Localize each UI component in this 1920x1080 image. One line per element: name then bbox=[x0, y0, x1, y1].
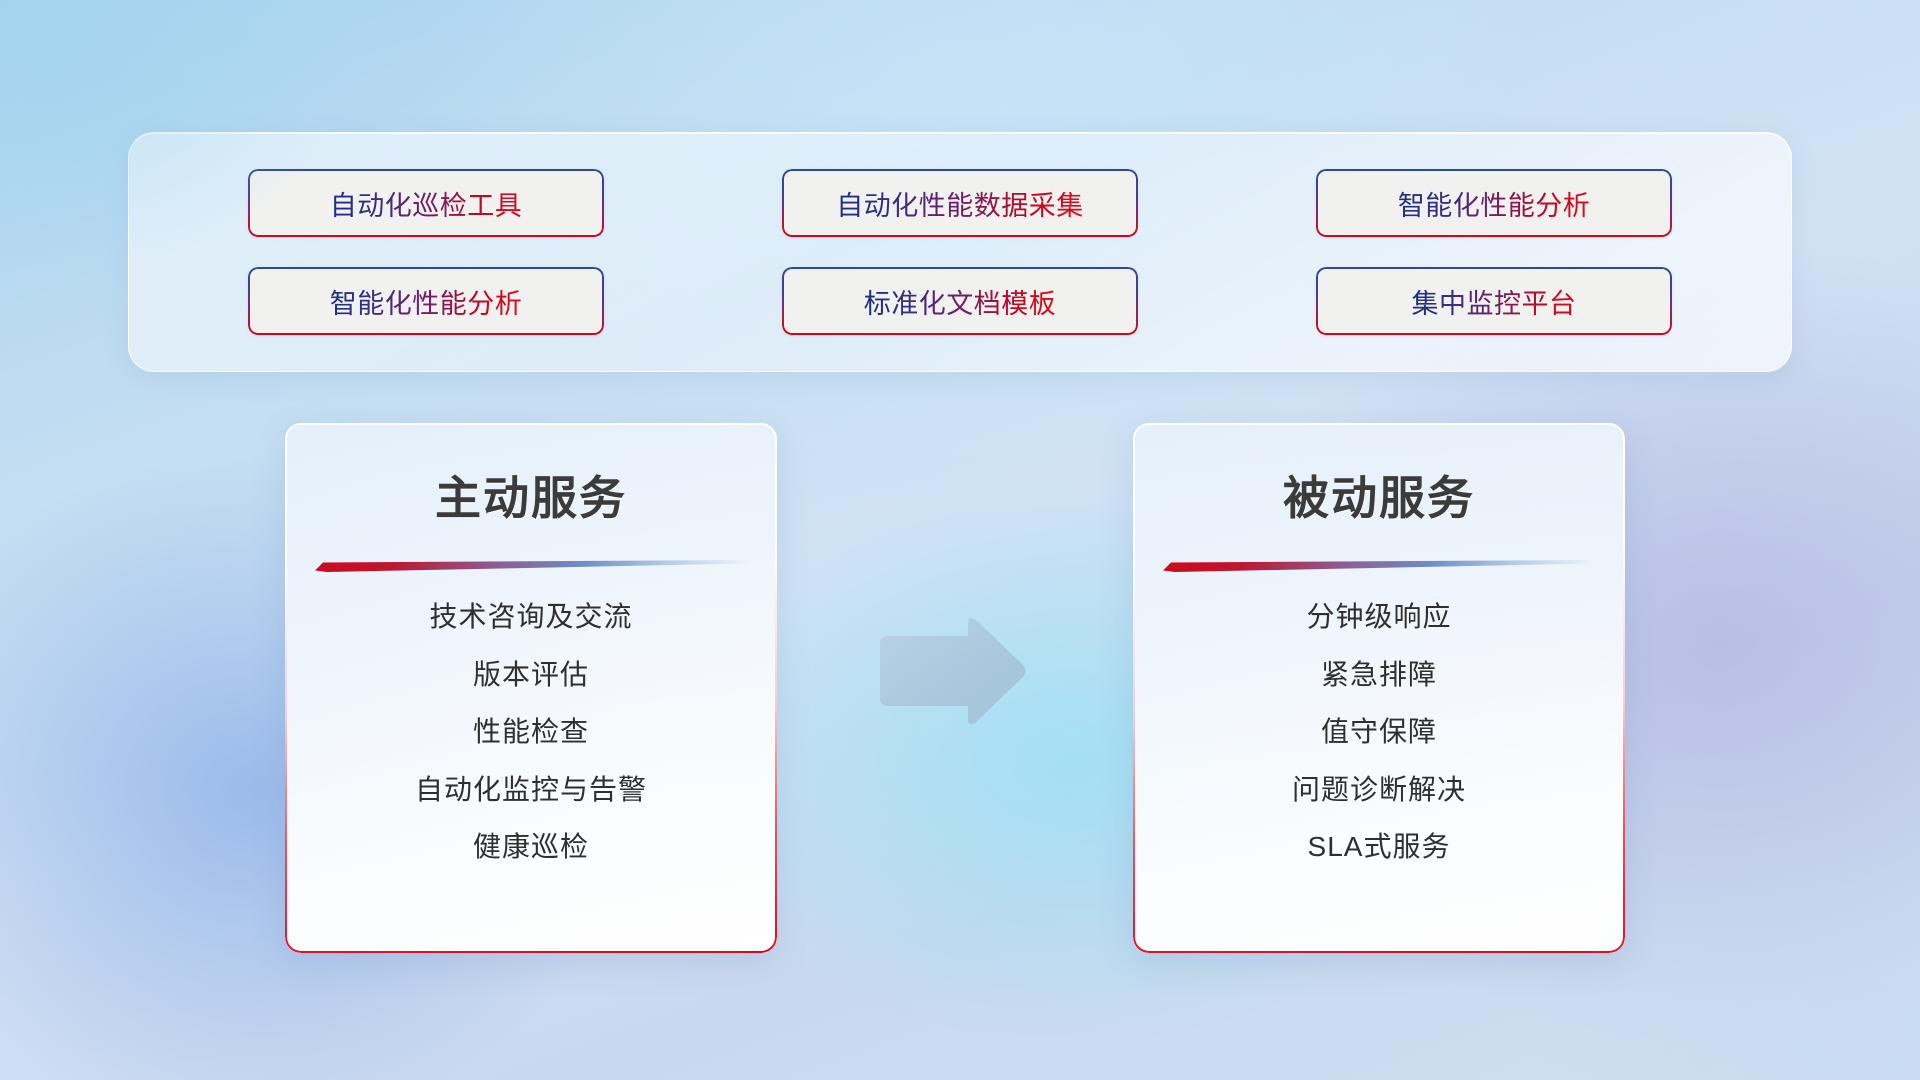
service-list: 分钟级响应 紧急排障 值守保障 问题诊断解决 SLA式服务 bbox=[1133, 600, 1625, 864]
capability-tag[interactable]: 标准化文档模板 bbox=[782, 267, 1138, 335]
capability-tag-label: 集中监控平台 bbox=[1412, 282, 1577, 321]
list-item: SLA式服务 bbox=[1308, 830, 1451, 864]
capability-tag[interactable]: 自动化巡检工具 bbox=[248, 169, 604, 237]
list-item: 技术咨询及交流 bbox=[429, 600, 632, 634]
list-item: 问题诊断解决 bbox=[1292, 773, 1466, 807]
capability-tag-label: 标准化文档模板 bbox=[864, 282, 1057, 321]
service-card-active: 主动服务 技术咨询及交流 版本评估 性能检查 bbox=[285, 423, 777, 953]
arrow-right-icon bbox=[870, 612, 1030, 732]
service-list: 技术咨询及交流 版本评估 性能检查 自动化监控与告警 健康巡检 bbox=[285, 600, 777, 864]
list-item: 分钟级响应 bbox=[1306, 600, 1451, 634]
list-item: 性能检查 bbox=[473, 715, 589, 749]
list-item: 版本评估 bbox=[473, 658, 589, 692]
capability-tag-label: 智能化性能分析 bbox=[1398, 184, 1591, 223]
capability-tag[interactable]: 智能化性能分析 bbox=[248, 267, 604, 335]
card-title: 主动服务 bbox=[285, 462, 777, 528]
capabilities-panel: 自动化巡检工具 自动化性能数据采集 智能化性能分析 智能化性能分析 标准化文档模… bbox=[128, 132, 1792, 372]
capability-tag-label: 自动化巡检工具 bbox=[330, 184, 523, 223]
list-item: 自动化监控与告警 bbox=[415, 773, 647, 807]
list-item: 值守保障 bbox=[1321, 715, 1437, 749]
service-card-passive: 被动服务 分钟级响应 紧急排障 值守保障 bbox=[1133, 423, 1625, 953]
capability-tag-label: 智能化性能分析 bbox=[330, 282, 523, 321]
card-divider bbox=[315, 560, 747, 572]
list-item: 健康巡检 bbox=[473, 830, 589, 864]
capability-tag-label: 自动化性能数据采集 bbox=[836, 184, 1084, 223]
list-item: 紧急排障 bbox=[1321, 658, 1437, 692]
capability-tag[interactable]: 集中监控平台 bbox=[1316, 267, 1672, 335]
capability-tag[interactable]: 自动化性能数据采集 bbox=[782, 169, 1138, 237]
card-divider bbox=[1163, 560, 1595, 572]
card-title: 被动服务 bbox=[1133, 462, 1625, 528]
diagram-canvas: 自动化巡检工具 自动化性能数据采集 智能化性能分析 智能化性能分析 标准化文档模… bbox=[0, 0, 1920, 1080]
capability-tag[interactable]: 智能化性能分析 bbox=[1316, 169, 1672, 237]
